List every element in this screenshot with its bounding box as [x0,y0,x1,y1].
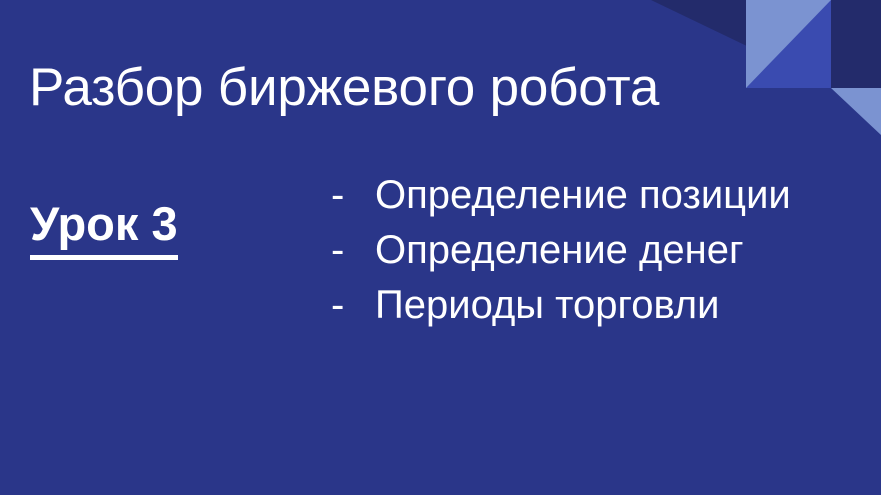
bullet-list: - Определение позиции - Определение дене… [331,173,791,338]
lesson-label: Урок 3 [30,198,178,260]
list-item-label: Периоды торговли [375,283,720,328]
lesson-label-text: Урок 3 [30,198,178,260]
list-item-label: Определение позиции [375,173,791,218]
bullet-dash-marker: - [331,283,375,328]
decor-light-square [746,0,831,88]
decor-dark-strip-right [831,0,881,88]
bullet-dash-marker: - [331,228,375,273]
list-item: - Периоды торговли [331,283,791,338]
decorative-corner-graphic [641,0,881,140]
list-item: - Определение денег [331,228,791,283]
list-item: - Определение позиции [331,173,791,228]
slide-title: Разбор биржевого робота [29,60,659,116]
decor-mid-triangle [746,0,831,88]
presentation-slide: Разбор биржевого робота Урок 3 - Определ… [0,0,881,495]
decor-light-triangle-bottom [831,88,881,135]
decor-dark-triangle-left [651,0,751,48]
list-item-label: Определение денег [375,228,744,273]
bullet-dash-marker: - [331,173,375,218]
